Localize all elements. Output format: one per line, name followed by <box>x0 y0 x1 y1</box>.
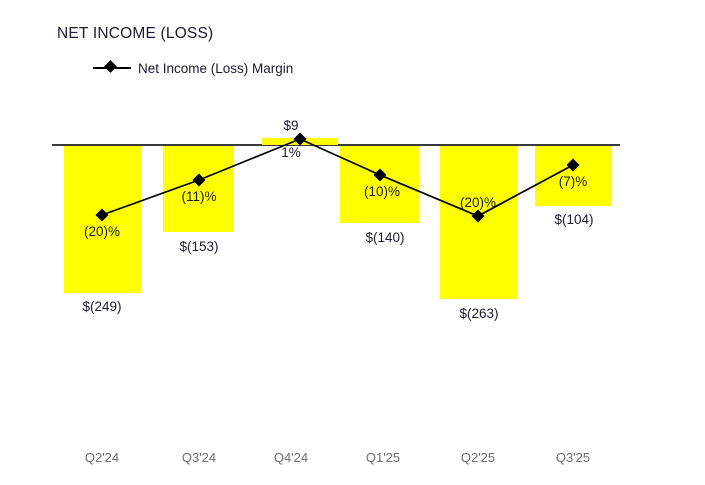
margin-percent-label: (10)% <box>364 184 400 199</box>
x-axis-tick-label: Q2'24 <box>85 450 119 465</box>
bar-value-label: $(104) <box>554 212 593 227</box>
x-axis-tick-label: Q3'25 <box>556 450 590 465</box>
margin-percent-label: (11)% <box>181 189 216 204</box>
x-axis-tick-label: Q3'24 <box>182 450 216 465</box>
bar-q225[interactable] <box>440 146 517 299</box>
bar-q424[interactable] <box>262 138 338 145</box>
plot-area: $(249)$(153)$9$(140)$(263)$(104) (20)%(1… <box>0 0 705 485</box>
bar-value-label: $(263) <box>459 306 498 321</box>
margin-percent-label: (7)% <box>559 174 588 189</box>
bar-value-label: $(140) <box>365 230 404 245</box>
bar-value-label: $(153) <box>179 239 218 254</box>
bar-value-label: $9 <box>283 118 298 133</box>
bar-value-label: $(249) <box>82 299 121 314</box>
margin-percent-label: (20)% <box>460 195 496 210</box>
margin-percent-label: 1% <box>281 145 301 160</box>
x-axis-tick-label: Q1'25 <box>366 450 400 465</box>
x-axis-tick-label: Q2'25 <box>461 450 495 465</box>
margin-percent-label: (20)% <box>84 224 120 239</box>
net-income-chart: NET INCOME (LOSS) Net Income (Loss) Marg… <box>0 0 705 485</box>
x-axis-tick-label: Q4'24 <box>274 450 308 465</box>
bar-q224[interactable] <box>64 146 141 293</box>
